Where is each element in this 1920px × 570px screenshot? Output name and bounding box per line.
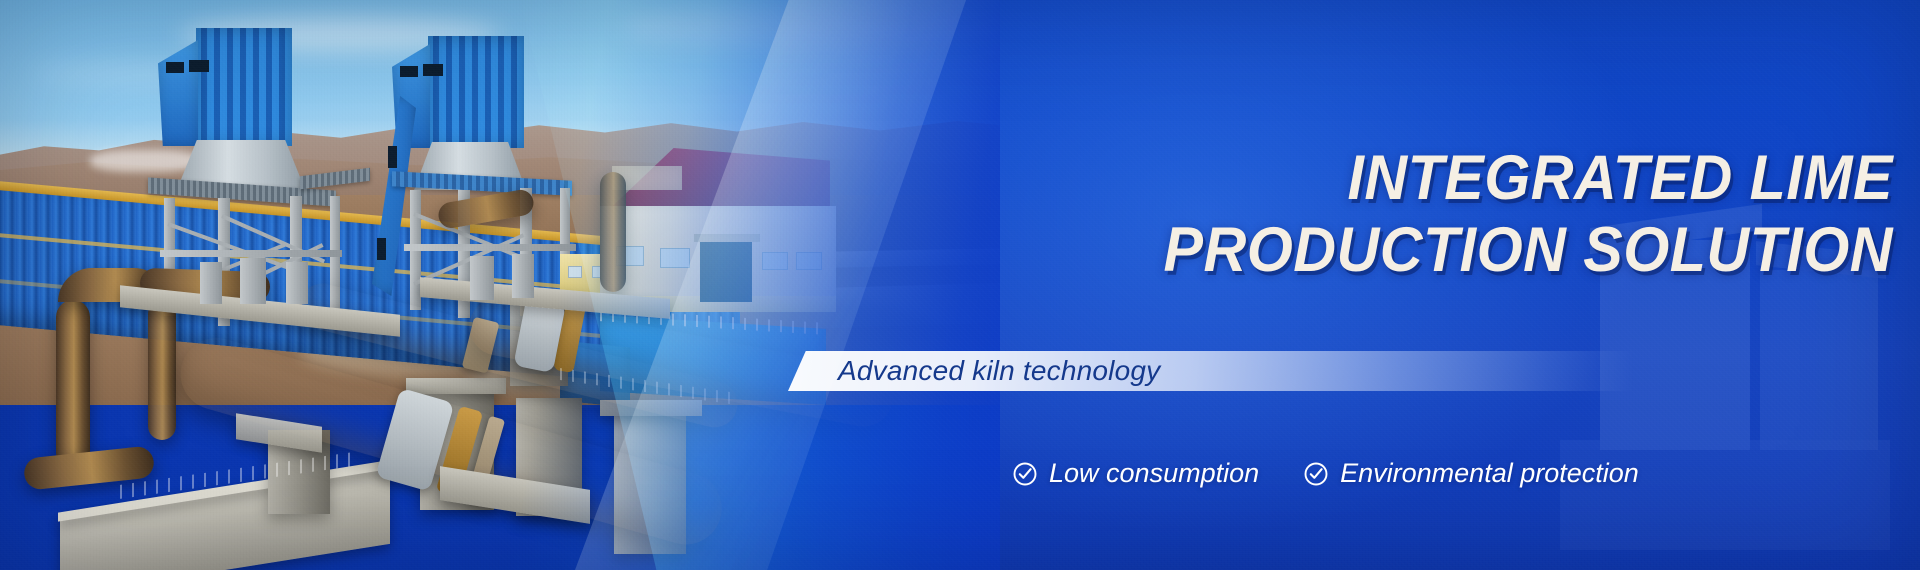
lime-production-banner: INTEGRATED LIME PRODUCTION SOLUTION Adva…: [0, 0, 1920, 570]
ghost-structure-watermark: [1560, 120, 1900, 550]
